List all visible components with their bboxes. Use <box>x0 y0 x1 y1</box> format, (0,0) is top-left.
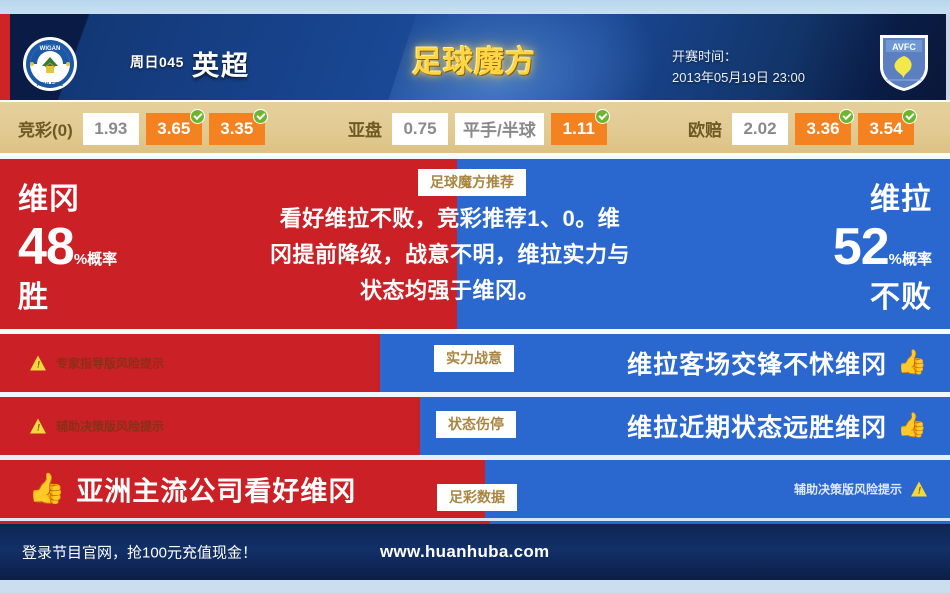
risk-note: 辅助决策版风险提示 <box>30 418 164 435</box>
thumbs-up-icon: 👍 <box>897 414 928 438</box>
match-analysis-page: WIGAN ATHLETIC 周日045 英超 足球魔方 开赛时间： 2013年… <box>0 14 950 580</box>
odds-cell[interactable]: 3.65 <box>146 113 202 145</box>
odds-cell-value: 1.11 <box>563 119 595 139</box>
advice-line: 状态均强于维冈。 <box>240 273 660 309</box>
odds-cell[interactable]: 3.36 <box>795 113 851 145</box>
advice-text: 看好维拉不败，竞彩推荐1、0。维 冈提前降级，战意不明，维拉实力与 状态均强于维… <box>240 201 660 309</box>
row-red-zone: 辅助决策版风险提示 <box>0 397 420 455</box>
risk-note-text: 辅助决策版风险提示 <box>794 481 902 498</box>
odds-group-yapan: 亚盘 0.75 平手/半球 1.11 <box>348 102 614 155</box>
row-headline: 维拉近期状态远胜维冈 👍 <box>627 408 928 444</box>
away-team-name: 维拉 <box>833 185 932 215</box>
league-name: 英超 <box>192 44 250 83</box>
odds-cell-value: 3.54 <box>869 119 902 139</box>
check-badge-icon <box>903 110 916 123</box>
odds-cell[interactable]: 1.11 <box>551 113 607 145</box>
wigan-athletic-crest-icon: WIGAN ATHLETIC <box>22 36 78 92</box>
away-outcome-label: 不败 <box>833 283 932 313</box>
odds-cell[interactable]: 1.93 <box>83 113 139 145</box>
kickoff-block: 开赛时间： 2013年05月19日 23:00 <box>672 46 805 88</box>
risk-note: 辅助决策版风险提示 <box>794 481 928 498</box>
home-probability-unit: %概率 <box>74 251 117 268</box>
home-team-name: 维冈 <box>18 185 117 215</box>
svg-text:AVFC: AVFC <box>892 42 916 52</box>
warning-icon <box>30 356 47 371</box>
row-headline: 维拉客场交锋不怵维冈 👍 <box>627 345 928 381</box>
tab-recommendation[interactable]: 足球魔方推荐 <box>418 169 526 196</box>
row-red-zone: 专家指导版风险提示 <box>0 334 380 392</box>
match-number: 周日045 <box>130 52 184 72</box>
odds-cell[interactable]: 2.02 <box>732 113 788 145</box>
odds-group-jingcai: 竞彩(0) 1.93 3.65 3.35 <box>18 102 272 155</box>
check-badge-icon <box>254 110 267 123</box>
odds-cell[interactable]: 平手/半球 <box>455 113 544 145</box>
tab-strength[interactable]: 实力战意 <box>434 345 514 372</box>
advice-line: 看好维拉不败，竞彩推荐1、0。维 <box>240 201 660 237</box>
check-badge-icon <box>191 110 204 123</box>
svg-text:WIGAN: WIGAN <box>40 46 61 52</box>
odds-group-title: 欧赔 <box>688 116 722 141</box>
risk-note: 专家指导版风险提示 <box>30 355 164 372</box>
away-probability-unit: %概率 <box>889 251 932 268</box>
home-outcome-label: 胜 <box>18 283 117 313</box>
odds-group-title: 竞彩(0) <box>18 116 73 141</box>
warning-icon <box>911 482 928 497</box>
tab-betting-data[interactable]: 足彩数据 <box>437 484 517 511</box>
footer-bar: 登录节目官网，抢100元充值现金！ www.huanhuba.com <box>0 521 950 580</box>
kickoff-time: 2013年05月19日 23:00 <box>672 67 805 88</box>
brand-logo: 足球魔方 <box>412 41 552 85</box>
risk-note-text: 专家指导版风险提示 <box>56 355 164 372</box>
row-headline-text: 亚洲主流公司看好维冈 <box>76 470 356 509</box>
match-header: WIGAN ATHLETIC 周日045 英超 足球魔方 开赛时间： 2013年… <box>0 14 950 100</box>
away-probability-stat: 维拉 52%概率 不败 <box>833 185 932 313</box>
tab-form[interactable]: 状态伤停 <box>436 411 516 438</box>
row-blue-zone: 辅助决策版风险提示 <box>485 460 950 518</box>
footer-site-url[interactable]: www.huanhuba.com <box>380 542 549 562</box>
odds-cell-value: 3.35 <box>220 119 253 139</box>
svg-text:ATHLETIC: ATHLETIC <box>37 82 64 88</box>
kickoff-label: 开赛时间： <box>672 46 805 67</box>
home-probability-stat: 维冈 48%概率 胜 <box>18 185 117 313</box>
odds-group-title: 亚盘 <box>348 116 382 141</box>
check-badge-icon <box>596 110 609 123</box>
risk-note-text: 辅助决策版风险提示 <box>56 418 164 435</box>
row-headline-text: 维拉客场交锋不怵维冈 <box>627 345 887 381</box>
home-probability-value: 48 <box>18 218 74 276</box>
advice-line: 冈提前降级，战意不明，维拉实力与 <box>240 237 660 273</box>
odds-cell-value: 3.36 <box>806 119 839 139</box>
row-headline: 👍 亚洲主流公司看好维冈 <box>28 470 356 509</box>
footer-promo-text: 登录节目官网，抢100元充值现金！ <box>22 542 257 563</box>
aston-villa-avfc-crest-icon: AVFC <box>876 32 932 94</box>
thumbs-up-icon: 👍 <box>28 474 66 504</box>
header-accent-right <box>946 14 950 100</box>
odds-cell[interactable]: 3.54 <box>858 113 914 145</box>
odds-group-oupei: 欧赔 2.02 3.36 3.54 <box>688 102 921 155</box>
row-red-zone: 👍 亚洲主流公司看好维冈 <box>0 460 485 518</box>
odds-cell[interactable]: 0.75 <box>392 113 448 145</box>
odds-bar: 竞彩(0) 1.93 3.65 3.35 亚盘 0.75 平手/半球 1.11 … <box>0 100 950 156</box>
odds-cell-value: 3.65 <box>157 119 190 139</box>
check-badge-icon <box>840 110 853 123</box>
thumbs-up-icon: 👍 <box>897 351 928 375</box>
away-probability-value: 52 <box>833 218 889 276</box>
header-accent-left <box>0 14 10 100</box>
warning-icon <box>30 419 47 434</box>
odds-cell[interactable]: 3.35 <box>209 113 265 145</box>
row-headline-text: 维拉近期状态远胜维冈 <box>627 408 887 444</box>
